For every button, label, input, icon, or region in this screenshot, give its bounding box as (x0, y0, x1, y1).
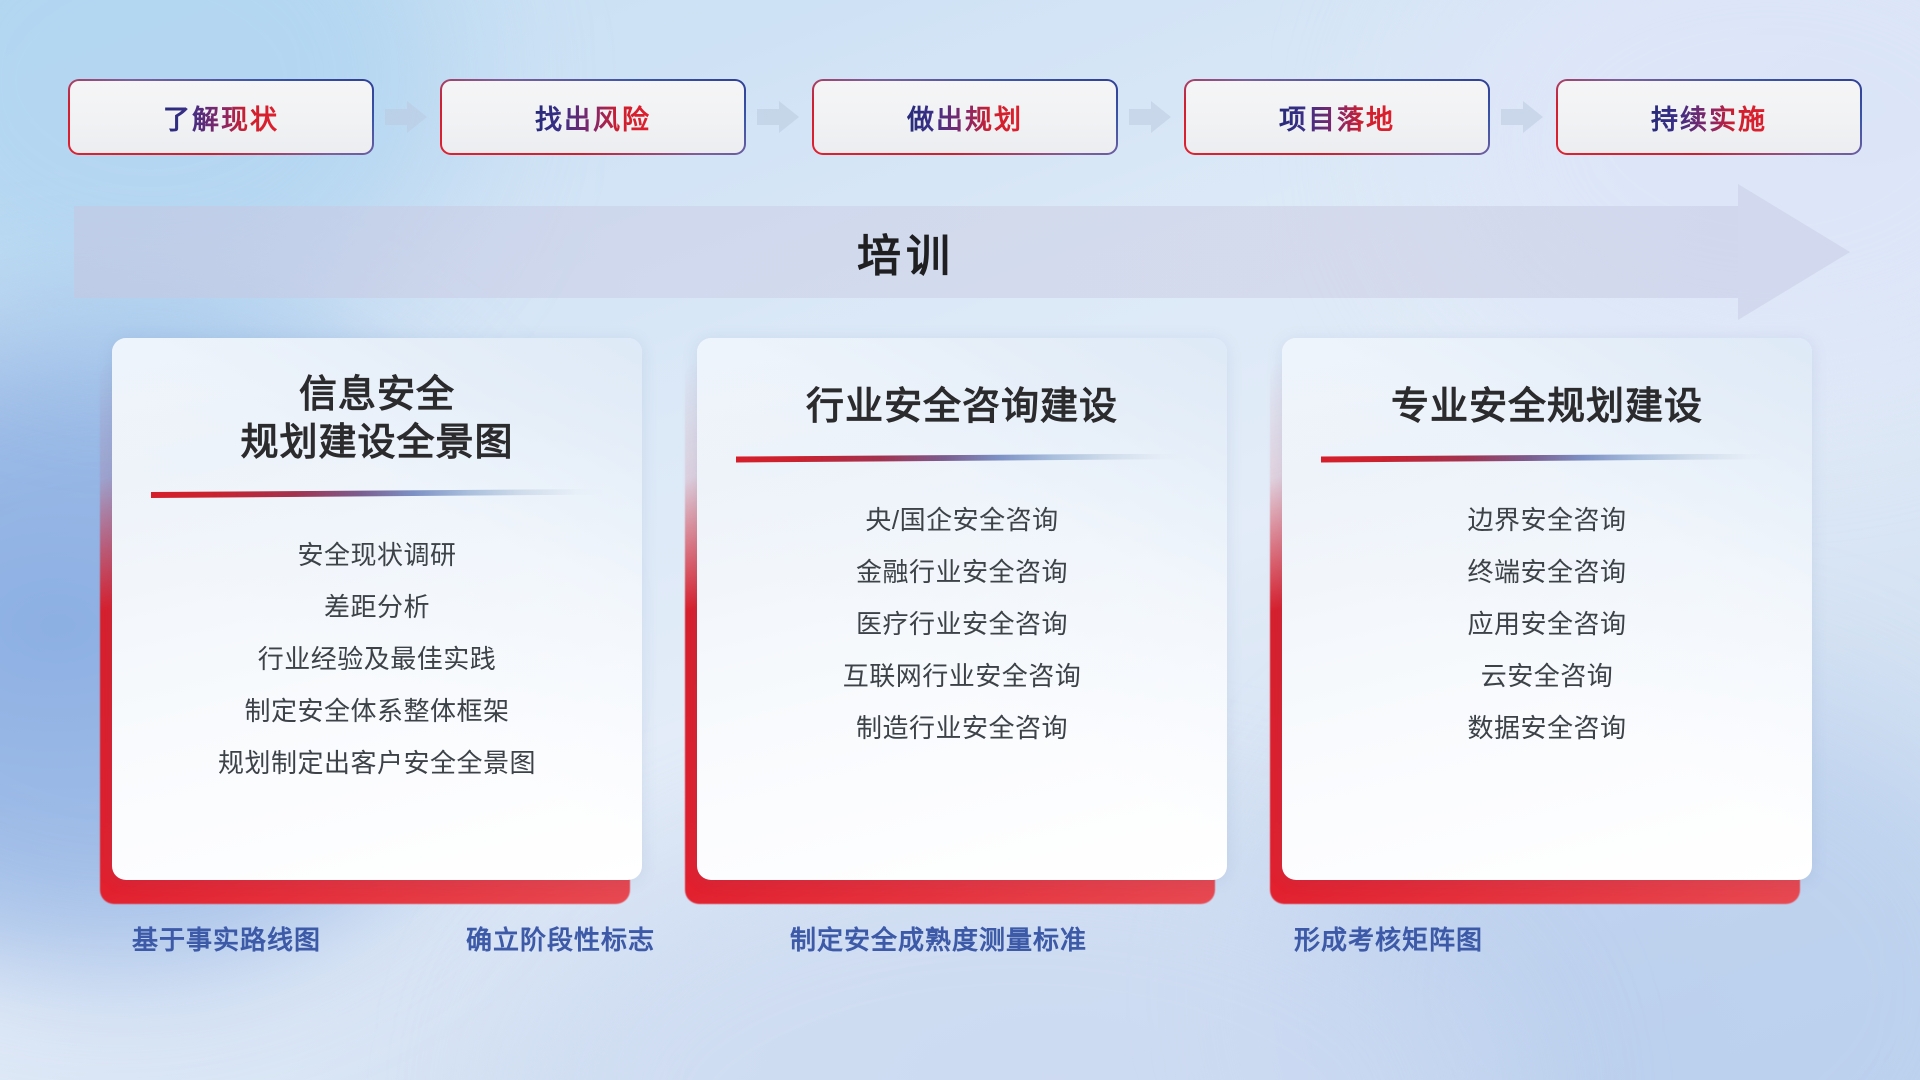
arrow-right-icon (757, 100, 801, 134)
step-item-1[interactable]: 找出风险 (442, 81, 744, 153)
step-label: 做出规划 (907, 98, 1023, 137)
list-item: 数据安全咨询 (1467, 707, 1626, 749)
step-item-0[interactable]: 了解现状 (70, 81, 372, 153)
list-item: 规划制定出客户安全全景图 (218, 742, 536, 784)
training-banner: 培训 (74, 206, 1844, 298)
list-item: 制造行业安全咨询 (856, 707, 1068, 749)
card-divider (1321, 454, 1773, 467)
list-item: 行业经验及最佳实践 (258, 638, 497, 680)
banner-arrow-tip-icon (1738, 184, 1850, 320)
process-step-flow: 了解现状 找出风险 做出规划 项目落地 持续实施 (70, 78, 1860, 156)
step-item-3[interactable]: 项目落地 (1186, 81, 1488, 153)
step-label: 了解现状 (163, 98, 279, 137)
caption-2: 制定安全成熟度测量标准 (790, 920, 1087, 957)
arrow-right-icon (1501, 100, 1545, 134)
step-label: 持续实施 (1651, 98, 1767, 137)
list-item: 安全现状调研 (297, 534, 456, 576)
card-0[interactable]: 信息安全 规划建设全景图 安全现状调研 差距分析 行业经验及最佳实践 制定安全体… (112, 338, 642, 880)
caption-3: 形成考核矩阵图 (1294, 920, 1483, 957)
card-surface: 信息安全 规划建设全景图 安全现状调研 差距分析 行业经验及最佳实践 制定安全体… (112, 338, 642, 880)
card-list: 央/国企安全咨询 金融行业安全咨询 医疗行业安全咨询 互联网行业安全咨询 制造行… (843, 499, 1082, 750)
list-item: 云安全咨询 (1481, 655, 1614, 697)
list-item: 金融行业安全咨询 (856, 551, 1068, 593)
card-divider (736, 454, 1188, 467)
caption-row: 基于事实路线图 确立阶段性标志 制定安全成熟度测量标准 形成考核矩阵图 (0, 920, 1920, 966)
banner-title: 培训 (74, 206, 1738, 298)
card-title: 专业安全规划建设 (1391, 384, 1703, 432)
slide-canvas: 了解现状 找出风险 做出规划 项目落地 持续实施 培训 (0, 0, 1920, 1080)
step-label: 项目落地 (1279, 98, 1395, 137)
step-item-2[interactable]: 做出规划 (814, 81, 1116, 153)
list-item: 医疗行业安全咨询 (856, 603, 1068, 645)
card-title: 信息安全 规划建设全景图 (240, 372, 513, 467)
arrow-right-icon (1129, 100, 1173, 134)
arrow-right-icon (385, 100, 429, 134)
list-item: 应用安全咨询 (1467, 603, 1626, 645)
list-item: 互联网行业安全咨询 (843, 655, 1082, 697)
card-surface: 专业安全规划建设 边界安全咨询 终端安全咨询 应用安全咨询 云安全咨询 数据安全… (1282, 338, 1812, 880)
list-item: 边界安全咨询 (1467, 499, 1626, 541)
card-list: 安全现状调研 差距分析 行业经验及最佳实践 制定安全体系整体框架 规划制定出客户… (218, 534, 536, 785)
list-item: 终端安全咨询 (1467, 551, 1626, 593)
list-item: 差距分析 (324, 586, 430, 628)
card-title: 行业安全咨询建设 (806, 384, 1118, 432)
card-list: 边界安全咨询 终端安全咨询 应用安全咨询 云安全咨询 数据安全咨询 (1467, 499, 1626, 750)
card-2[interactable]: 专业安全规划建设 边界安全咨询 终端安全咨询 应用安全咨询 云安全咨询 数据安全… (1282, 338, 1812, 880)
step-item-4[interactable]: 持续实施 (1558, 81, 1860, 153)
caption-0: 基于事实路线图 (132, 920, 321, 957)
card-divider (151, 489, 603, 502)
list-item: 制定安全体系整体框架 (244, 690, 509, 732)
card-surface: 行业安全咨询建设 央/国企安全咨询 金融行业安全咨询 医疗行业安全咨询 互联网行… (697, 338, 1227, 880)
list-item: 央/国企安全咨询 (865, 499, 1058, 541)
card-row: 信息安全 规划建设全景图 安全现状调研 差距分析 行业经验及最佳实践 制定安全体… (112, 338, 1812, 880)
card-1[interactable]: 行业安全咨询建设 央/国企安全咨询 金融行业安全咨询 医疗行业安全咨询 互联网行… (697, 338, 1227, 880)
step-label: 找出风险 (535, 98, 651, 137)
caption-1: 确立阶段性标志 (466, 920, 655, 957)
